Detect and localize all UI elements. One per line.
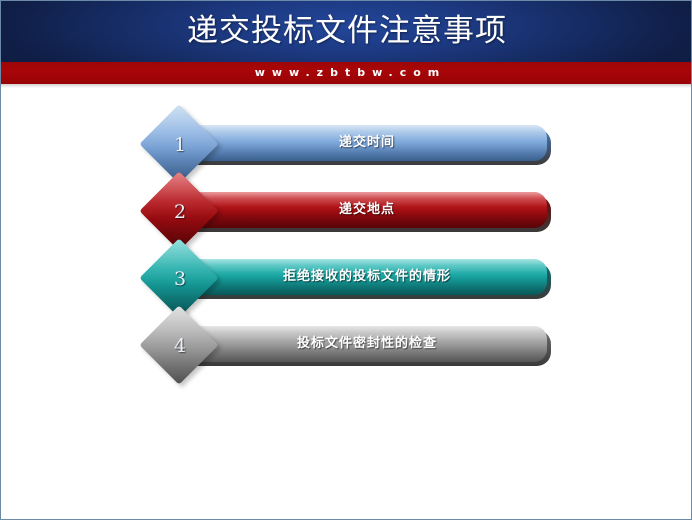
step-number-diamond[interactable]: 4 [149,315,215,381]
step-label: 递交时间 [187,125,547,161]
step-label: 投标文件密封性的检查 [187,326,547,362]
header-drop-shadow [1,84,692,88]
step-number-diamond[interactable]: 3 [149,248,215,314]
step-number: 2 [149,181,211,243]
step-number-diamond[interactable]: 2 [149,181,215,247]
step-number: 3 [149,248,211,310]
step-number: 4 [149,315,211,377]
step-banner[interactable]: 递交时间 [187,125,547,161]
step-label: 拒绝接收的投标文件的情形 [187,259,547,295]
step-label: 递交地点 [187,192,547,228]
step-number: 1 [149,114,211,176]
steps-list: 递交时间1递交地点2拒绝接收的投标文件的情形3投标文件密封性的检查4 [1,114,692,382]
step-banner[interactable]: 投标文件密封性的检查 [187,326,547,362]
step-row[interactable]: 递交地点2 [1,181,692,248]
step-banner[interactable]: 递交地点 [187,192,547,228]
site-url-text: www.zbtbw.com [1,62,692,84]
step-row[interactable]: 递交时间1 [1,114,692,181]
presentation-slide: 递交投标文件注意事项 www.zbtbw.com 递交时间1递交地点2拒绝接收的… [0,0,692,520]
step-number-diamond[interactable]: 1 [149,114,215,180]
page-title: 递交投标文件注意事项 [1,1,692,62]
step-row[interactable]: 拒绝接收的投标文件的情形3 [1,248,692,315]
step-banner[interactable]: 拒绝接收的投标文件的情形 [187,259,547,295]
step-row[interactable]: 投标文件密封性的检查4 [1,315,692,382]
